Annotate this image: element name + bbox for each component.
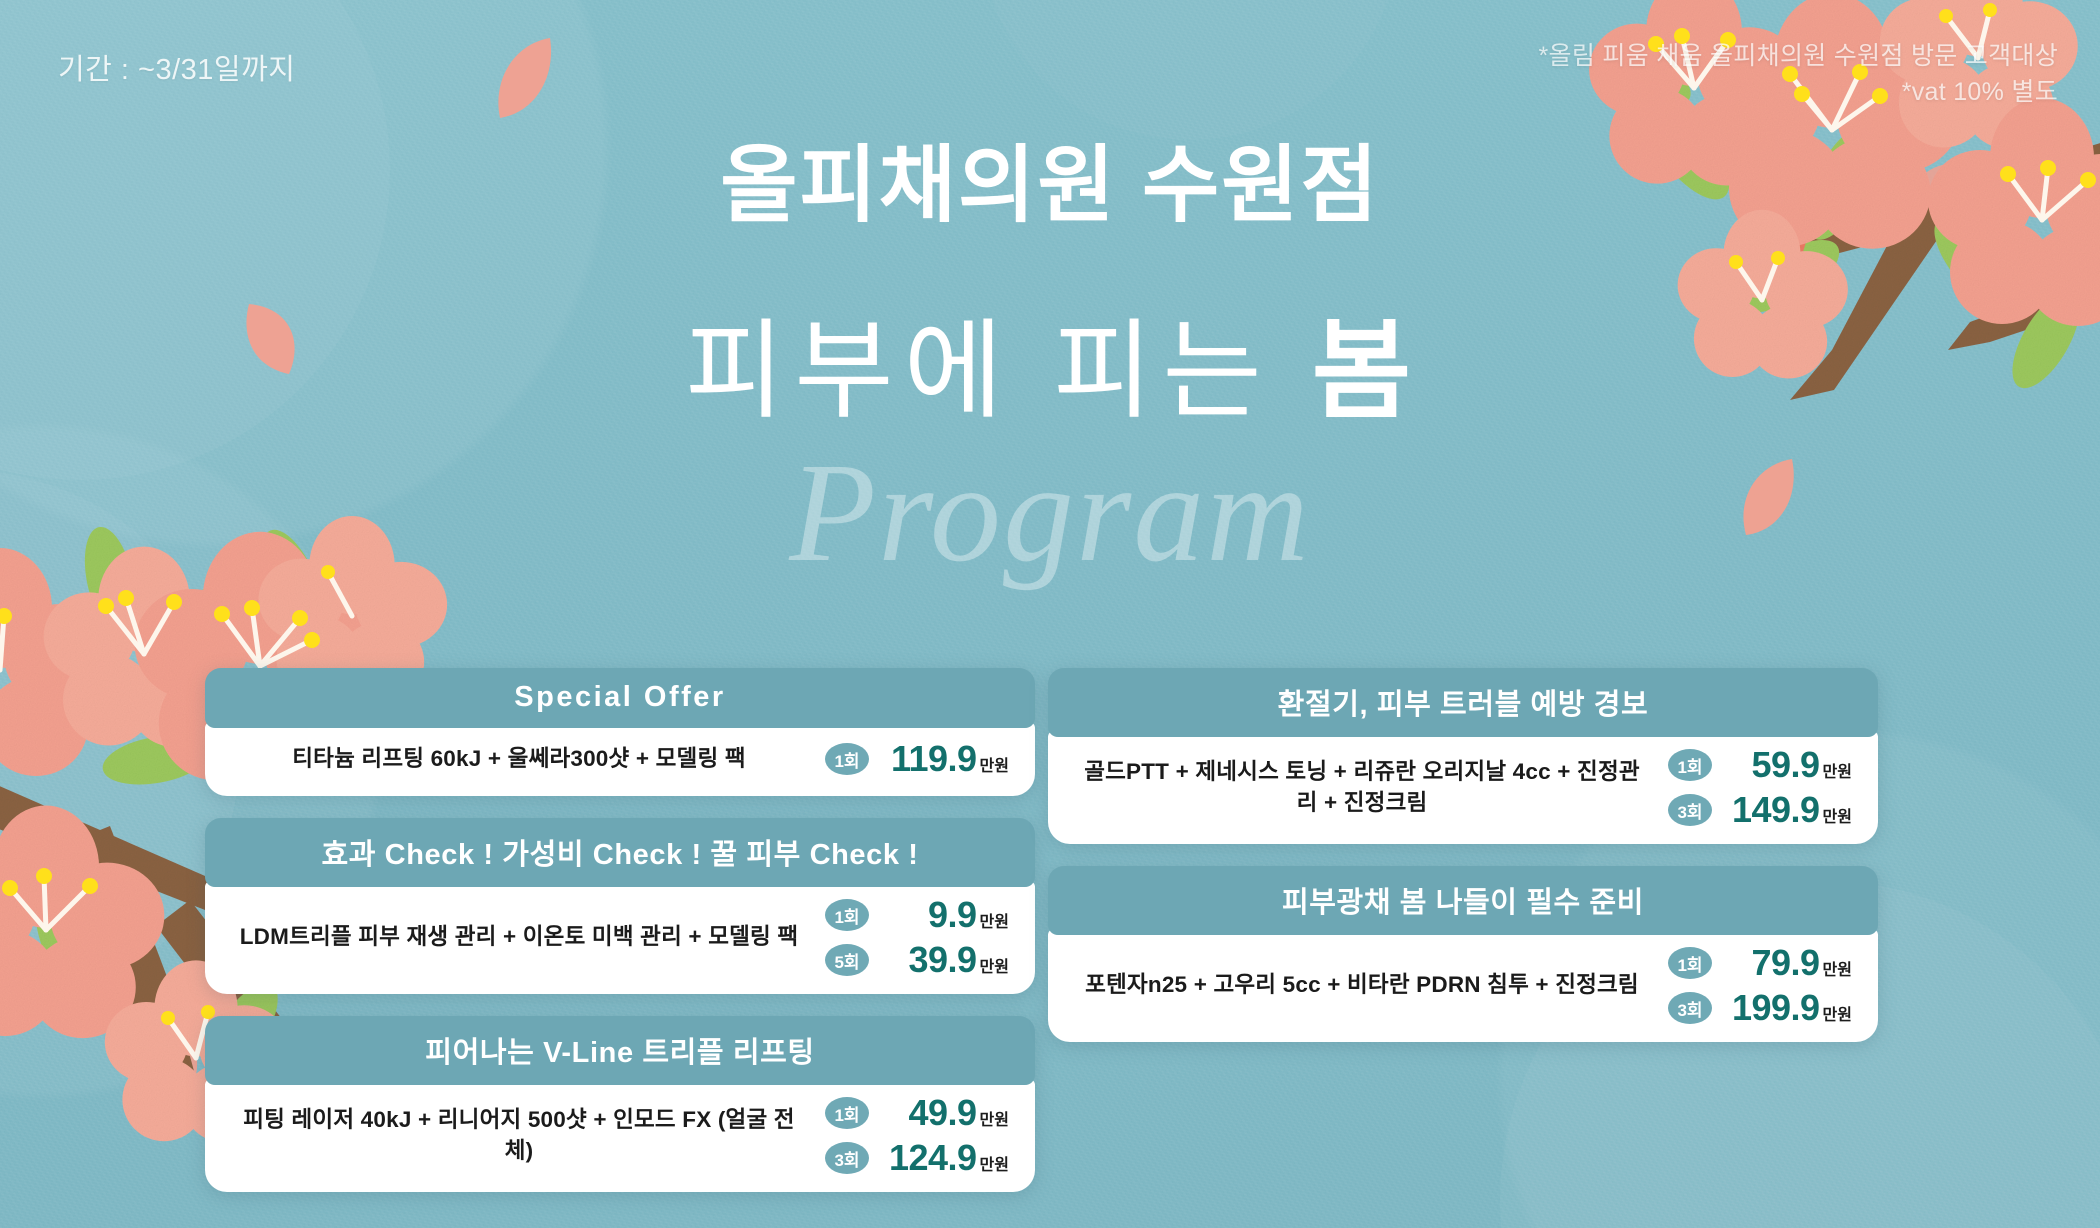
price-list: 1회 9.9 만원 5회 39.9 만원	[825, 897, 1009, 978]
program-card[interactable]: 피어나는 V-Line 트리플 리프팅 피팅 레이저 40kJ + 리니어지 5…	[205, 1016, 1035, 1192]
price-list: 1회 49.9 만원 3회 124.9 만원	[825, 1095, 1009, 1176]
session-count-badge: 3회	[825, 1142, 869, 1174]
price-amount: 149.9 만원	[1726, 792, 1852, 828]
right-program-column: 환절기, 피부 트러블 예방 경보 골드PTT + 제네시스 토닝 + 리쥬란 …	[1048, 668, 1878, 1064]
price-row: 1회 49.9 만원	[825, 1095, 1009, 1131]
card-body: LDM트리플 피부 재생 관리 + 이온토 미백 관리 + 모델링 팩 1회 9…	[205, 881, 1035, 994]
session-count-badge: 3회	[1668, 992, 1712, 1024]
price-unit: 만원	[1823, 963, 1852, 979]
card-title: 효과 Check ! 가성비 Check ! 꿀 피부 Check !	[205, 818, 1035, 887]
notice-line-1: *올림 피움 채움 올피채의원 수원점 방문 고객대상	[1538, 38, 2058, 74]
card-title: 피어나는 V-Line 트리플 리프팅	[205, 1016, 1035, 1085]
price-value: 119.9	[891, 741, 977, 777]
price-amount: 39.9 만원	[883, 942, 1009, 978]
price-unit: 만원	[1823, 765, 1852, 781]
session-count-badge: 1회	[825, 899, 869, 931]
program-card[interactable]: 효과 Check ! 가성비 Check ! 꿀 피부 Check ! LDM트…	[205, 818, 1035, 994]
session-count-badge: 1회	[825, 743, 869, 775]
card-body: 티타늄 리프팅 60kJ + 울쎄라300샷 + 모델링 팩 1회 119.9 …	[205, 722, 1035, 796]
session-count-badge: 3회	[1668, 794, 1712, 826]
price-unit: 만원	[980, 759, 1009, 775]
price-row: 1회 9.9 만원	[825, 897, 1009, 933]
program-card[interactable]: Special Offer 티타늄 리프팅 60kJ + 울쎄라300샷 + 모…	[205, 668, 1035, 796]
session-count-badge: 5회	[825, 944, 869, 976]
program-card[interactable]: 피부광채 봄 나들이 필수 준비 포텐자n25 + 고우리 5cc + 비타란 …	[1048, 866, 1878, 1042]
card-description: 티타늄 리프팅 60kJ + 울쎄라300샷 + 모델링 팩	[231, 744, 825, 774]
price-amount: 79.9 만원	[1726, 945, 1852, 981]
price-row: 3회 149.9 만원	[1668, 792, 1852, 828]
card-description: 골드PTT + 제네시스 토닝 + 리쥬란 오리지날 4cc + 진정관리 + …	[1074, 757, 1668, 818]
card-body: 포텐자n25 + 고우리 5cc + 비타란 PDRN 침투 + 진정크림 1회…	[1048, 929, 1878, 1042]
session-count-badge: 1회	[1668, 749, 1712, 781]
card-description: 포텐자n25 + 고우리 5cc + 비타란 PDRN 침투 + 진정크림	[1074, 970, 1668, 1000]
price-value: 39.9	[908, 942, 976, 978]
slogan-prefix: 피부에 피는	[685, 310, 1272, 431]
price-value: 124.9	[889, 1140, 977, 1176]
price-row: 1회 119.9 만원	[825, 741, 1009, 777]
price-value: 199.9	[1732, 990, 1820, 1026]
price-amount: 119.9 만원	[883, 741, 1009, 777]
price-list: 1회 119.9 만원	[825, 741, 1009, 777]
price-amount: 124.9 만원	[883, 1140, 1009, 1176]
price-value: 59.9	[1751, 747, 1819, 783]
price-value: 149.9	[1732, 792, 1820, 828]
price-value: 79.9	[1751, 945, 1819, 981]
slogan: 피부에 피는 봄	[0, 284, 2100, 440]
price-unit: 만원	[1823, 1008, 1852, 1024]
price-row: 1회 79.9 만원	[1668, 945, 1852, 981]
clinic-brand-title: 올피채의원 수원점	[0, 118, 2100, 239]
floating-petal-4	[148, 1048, 200, 1118]
price-value: 49.9	[908, 1095, 976, 1131]
card-title: 환절기, 피부 트러블 예방 경보	[1048, 668, 1878, 737]
price-list: 1회 59.9 만원 3회 149.9 만원	[1668, 747, 1852, 828]
card-body: 골드PTT + 제네시스 토닝 + 리쥬란 오리지날 4cc + 진정관리 + …	[1048, 731, 1878, 844]
notice-line-2: *vat 10% 별도	[1538, 74, 2058, 110]
card-description: LDM트리플 피부 재생 관리 + 이온토 미백 관리 + 모델링 팩	[231, 922, 825, 952]
card-body: 피팅 레이저 40kJ + 리니어지 500샷 + 인모드 FX (얼굴 전체)…	[205, 1079, 1035, 1192]
session-count-badge: 1회	[1668, 947, 1712, 979]
price-value: 9.9	[928, 897, 977, 933]
script-wordmark: Program	[0, 430, 2100, 594]
price-amount: 199.9 만원	[1726, 990, 1852, 1026]
price-unit: 만원	[980, 1158, 1009, 1174]
slogan-emphasis: 봄	[1312, 310, 1415, 431]
floating-petal-1	[490, 30, 556, 122]
poster-canvas: 기간 : ~3/31일까지 *올림 피움 채움 올피채의원 수원점 방문 고객대…	[0, 0, 2100, 1228]
price-row: 1회 59.9 만원	[1668, 747, 1852, 783]
left-program-column: Special Offer 티타늄 리프팅 60kJ + 울쎄라300샷 + 모…	[205, 668, 1035, 1214]
price-unit: 만원	[980, 960, 1009, 976]
price-list: 1회 79.9 만원 3회 199.9 만원	[1668, 945, 1852, 1026]
period-label: 기간 : ~3/31일까지	[58, 46, 295, 88]
card-title: 피부광채 봄 나들이 필수 준비	[1048, 866, 1878, 935]
program-card[interactable]: 환절기, 피부 트러블 예방 경보 골드PTT + 제네시스 토닝 + 리쥬란 …	[1048, 668, 1878, 844]
notice-block: *올림 피움 채움 올피채의원 수원점 방문 고객대상 *vat 10% 별도	[1538, 38, 2058, 111]
price-unit: 만원	[980, 1113, 1009, 1129]
card-title: Special Offer	[205, 668, 1035, 728]
price-unit: 만원	[1823, 810, 1852, 826]
price-amount: 49.9 만원	[883, 1095, 1009, 1131]
price-amount: 9.9 만원	[883, 897, 1009, 933]
price-row: 3회 124.9 만원	[825, 1140, 1009, 1176]
price-row: 3회 199.9 만원	[1668, 990, 1852, 1026]
price-amount: 59.9 만원	[1726, 747, 1852, 783]
price-unit: 만원	[980, 915, 1009, 931]
card-description: 피팅 레이저 40kJ + 리니어지 500샷 + 인모드 FX (얼굴 전체)	[231, 1105, 825, 1166]
session-count-badge: 1회	[825, 1097, 869, 1129]
price-row: 5회 39.9 만원	[825, 942, 1009, 978]
